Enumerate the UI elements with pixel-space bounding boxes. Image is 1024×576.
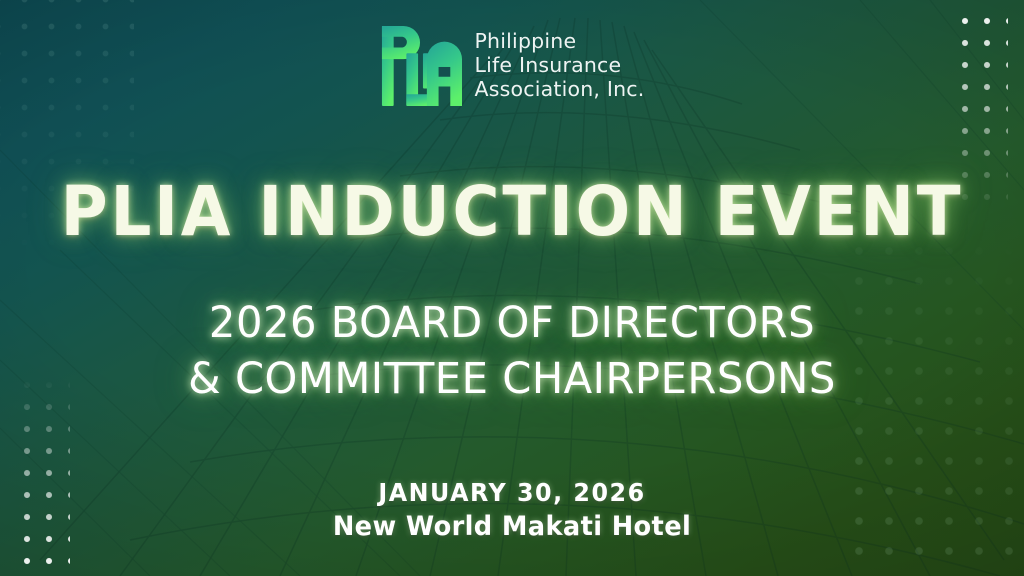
- org-name-line-2: Life Insurance: [475, 54, 645, 78]
- subtitle-line-2: & COMMITTEE CHAIRPERSONS: [15, 352, 1008, 408]
- org-name-line-3: Association, Inc.: [475, 78, 645, 102]
- event-details: JANUARY 30, 2026 New World Makati Hotel: [0, 478, 1024, 542]
- logo-lockup: Philippine Life Insurance Association, I…: [0, 24, 1024, 108]
- organization-name: Philippine Life Insurance Association, I…: [475, 30, 645, 101]
- subtitle-line-1: 2026 BOARD OF DIRECTORS: [15, 296, 1008, 352]
- plia-monogram-icon: [380, 24, 462, 108]
- event-venue: New World Makati Hotel: [26, 511, 999, 542]
- event-title: PLIA INDUCTION EVENT: [36, 172, 988, 252]
- event-date: JANUARY 30, 2026: [26, 478, 999, 507]
- org-name-line-1: Philippine: [475, 30, 645, 54]
- event-subtitle: 2026 BOARD OF DIRECTORS & COMMITTEE CHAI…: [15, 296, 1008, 408]
- event-poster: Philippine Life Insurance Association, I…: [0, 0, 1024, 576]
